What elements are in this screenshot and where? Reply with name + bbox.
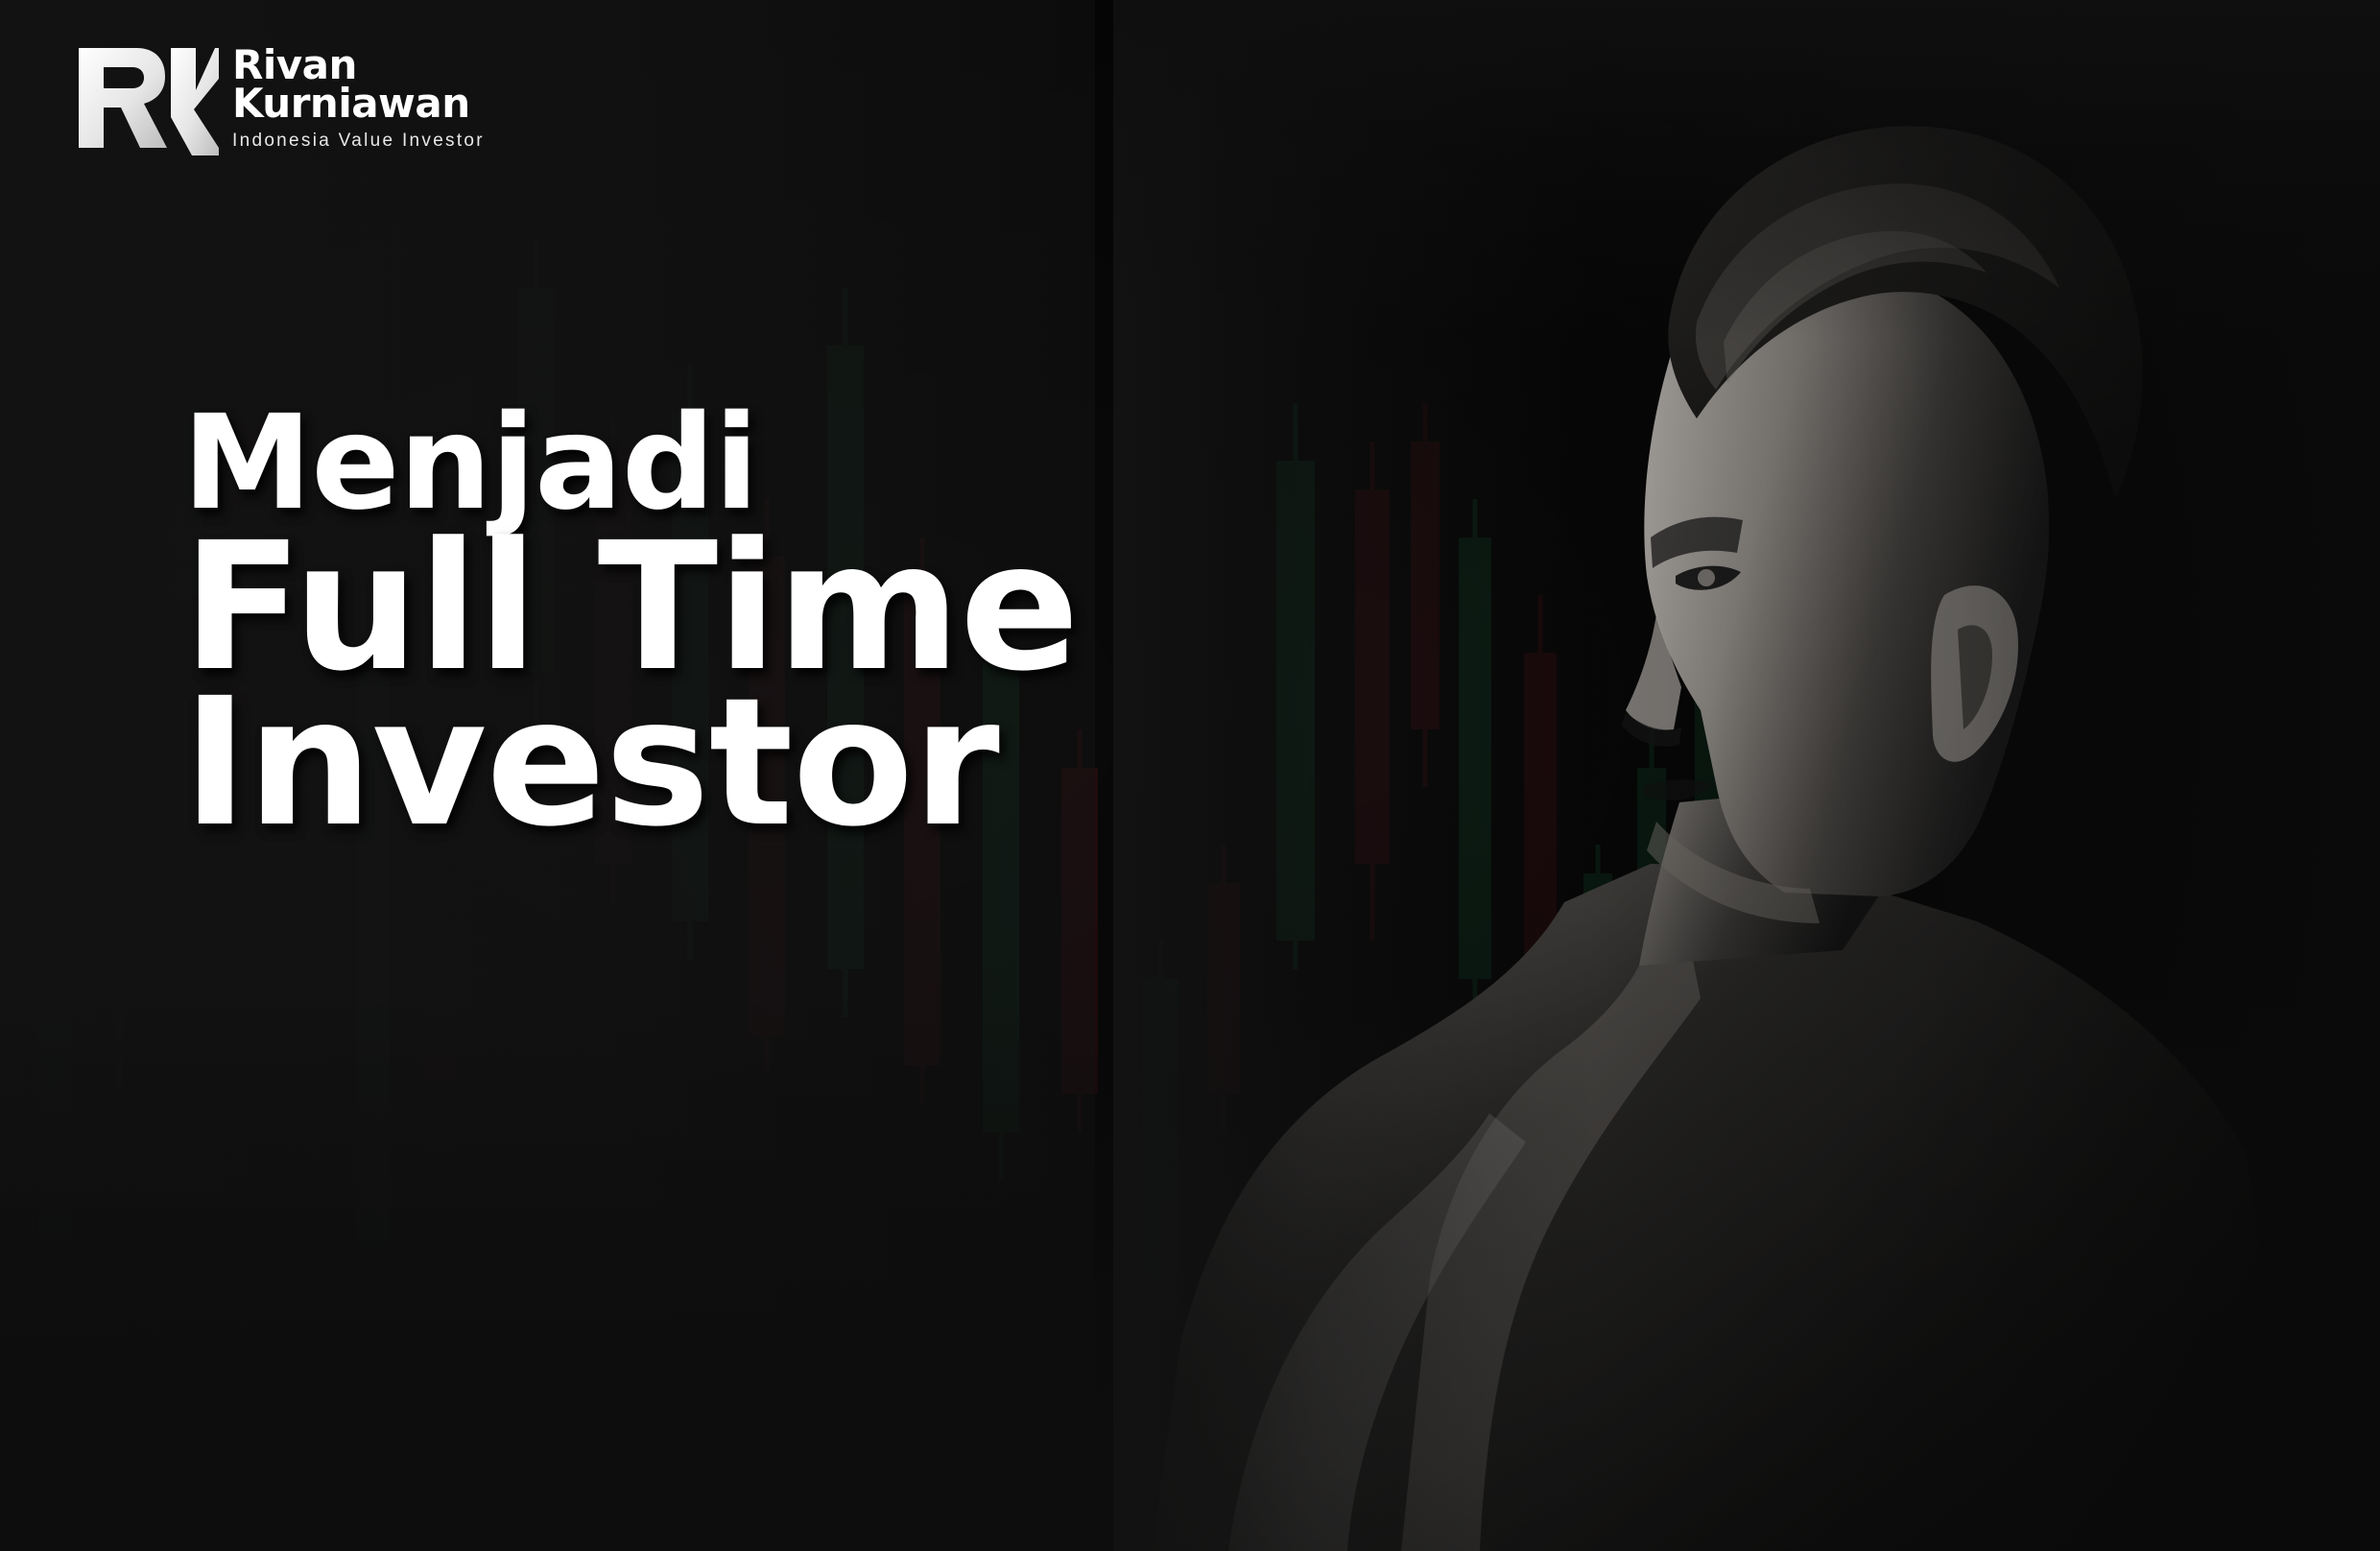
candle [1142, 941, 1178, 1363]
candle-wick [1596, 845, 1601, 1075]
candle-body [1355, 489, 1390, 864]
candle-body [1695, 633, 1724, 883]
page-title: Menjadi Full Time Investor [182, 398, 1079, 850]
candle-body [1142, 979, 1178, 1334]
candle-wick [118, 394, 123, 1094]
brand-logo[interactable]: Rivan Kurniawan Indonesia Value Investor [75, 40, 485, 155]
candle-wick [1294, 403, 1298, 969]
portrait-photo [1113, 0, 2380, 1551]
candle-wick [1158, 941, 1163, 1363]
candle-body [1459, 537, 1491, 979]
candle [1355, 441, 1390, 941]
candle-wick [1650, 729, 1654, 1017]
candle-wick [1538, 595, 1543, 1017]
candle-wick [1370, 441, 1375, 941]
candle-body [104, 451, 136, 614]
candle-body [1207, 883, 1240, 1094]
brand-name-line-2: Kurniawan [232, 84, 485, 123]
candle-body [422, 979, 455, 1152]
candle [1637, 729, 1666, 1017]
candle [38, 537, 71, 1238]
candle [1459, 499, 1491, 1037]
candle-body [38, 576, 71, 1238]
candle [1276, 403, 1315, 969]
candle [1695, 595, 1724, 921]
brand-wordmark: Rivan Kurniawan Indonesia Value Investor [232, 40, 485, 152]
candle [422, 941, 455, 1190]
candle [1411, 403, 1440, 787]
bottom-dark-overlay [0, 992, 2380, 1551]
candle-wick [1423, 403, 1428, 787]
candle-wick [1222, 845, 1226, 1133]
candle-body [1583, 873, 1612, 1046]
candle [104, 394, 136, 1094]
candle-wick [437, 941, 441, 1190]
candle [1583, 845, 1612, 1075]
candle-wick [1707, 595, 1712, 921]
candle-body [1637, 768, 1666, 979]
brand-tagline: Indonesia Value Investor [232, 131, 485, 152]
candle-body [1411, 441, 1440, 729]
headline-line-3: Investor [182, 677, 1079, 849]
candle-wick [1473, 499, 1478, 1037]
rk-monogram-icon [75, 40, 219, 155]
brand-name-line-1: Rivan [232, 46, 485, 84]
candle-body [1524, 653, 1557, 979]
candle [1524, 595, 1557, 1017]
candle-wick [53, 537, 58, 1238]
candle [1207, 845, 1240, 1133]
promo-banner: Rivan Kurniawan Indonesia Value Investor… [0, 0, 2380, 1551]
candle-body [1276, 461, 1315, 941]
